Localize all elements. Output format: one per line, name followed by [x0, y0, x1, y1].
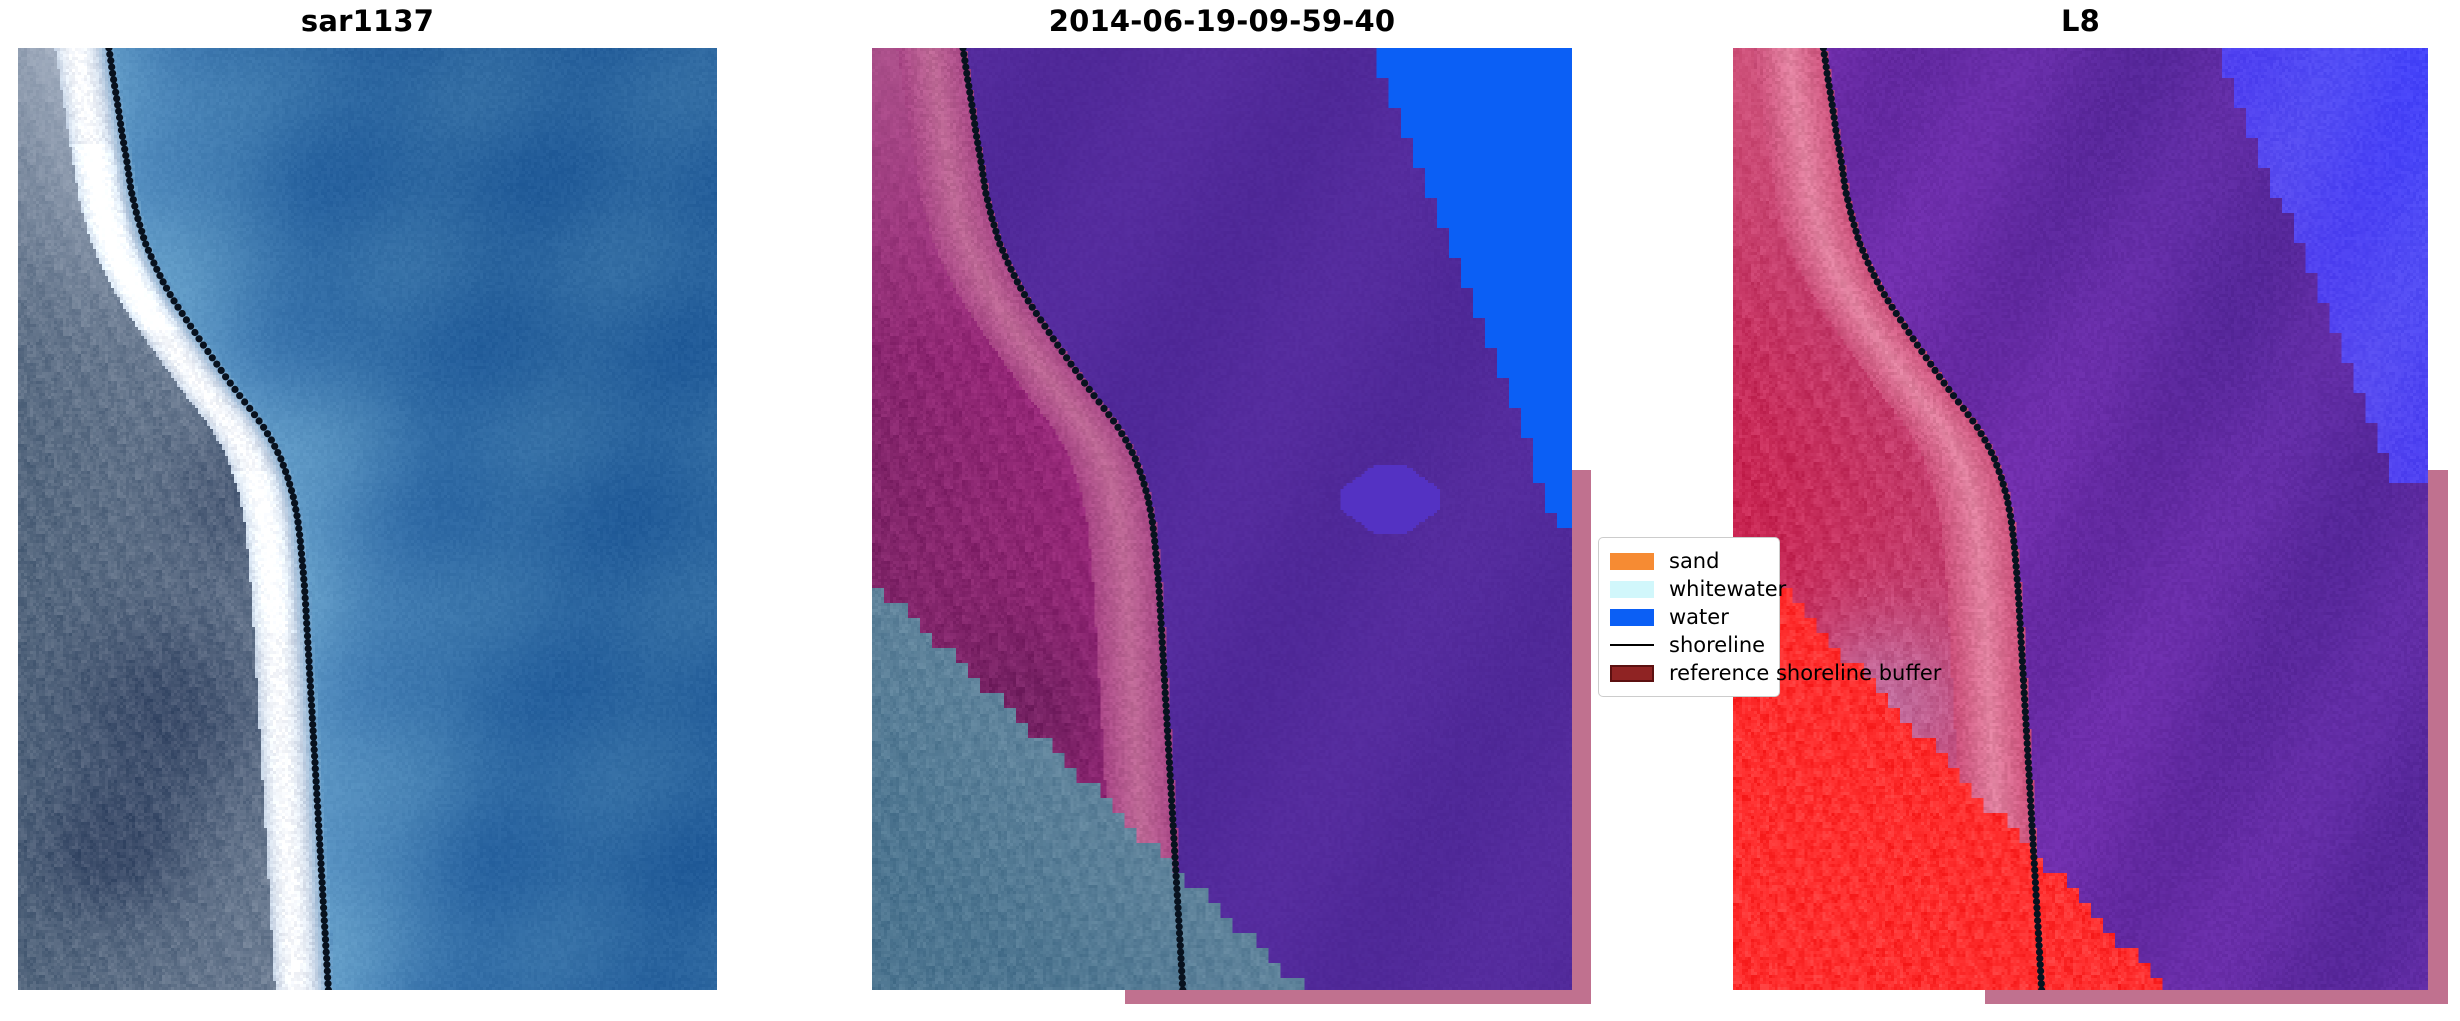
- shoreline-dot: [2033, 904, 2040, 911]
- shoreline-dot: [187, 323, 194, 330]
- shoreline-dot: [1152, 544, 1159, 551]
- shoreline-dot: [2026, 784, 2033, 791]
- shoreline-dot: [1141, 481, 1148, 488]
- shoreline-dot: [110, 76, 117, 83]
- shoreline-dot: [306, 670, 313, 677]
- shoreline-dot: [1041, 323, 1048, 330]
- legend-row-water: water: [1610, 603, 1769, 631]
- shoreline-dot: [1868, 266, 1875, 273]
- shoreline-dot: [1865, 259, 1872, 266]
- shoreline-dot: [1139, 474, 1146, 481]
- shoreline-dot: [264, 430, 271, 437]
- shoreline-dot: [1936, 373, 1943, 380]
- shoreline-dot: [1905, 329, 1912, 336]
- shoreline-dot: [2036, 949, 2043, 956]
- shoreline-dot: [2030, 854, 2037, 861]
- shoreline-dot: [1941, 380, 1948, 387]
- shoreline-dot: [1965, 411, 1972, 418]
- shoreline-dot: [2036, 942, 2043, 949]
- shoreline-dot: [324, 974, 331, 981]
- shoreline-dot: [969, 108, 976, 115]
- shoreline-dot: [282, 468, 289, 475]
- shoreline-dot: [156, 272, 163, 279]
- shoreline-dot: [323, 949, 330, 956]
- shoreline-dot: [303, 620, 310, 627]
- shoreline-dot: [204, 348, 211, 355]
- shoreline-dot: [2011, 544, 2018, 551]
- shoreline-dot: [2033, 898, 2040, 905]
- shoreline-dot: [319, 879, 326, 886]
- shoreline-dot: [324, 967, 331, 974]
- shoreline-dot: [2026, 771, 2033, 778]
- shoreline-dot: [1152, 550, 1159, 557]
- shoreline-dot: [1824, 70, 1831, 77]
- shoreline-dot: [316, 835, 323, 842]
- shoreline-dot: [1153, 557, 1160, 564]
- shoreline-dot: [1132, 455, 1139, 462]
- shoreline-dot: [118, 127, 125, 134]
- shoreline-dot: [153, 266, 160, 273]
- figure-canvas: sar1137 2014-06-19-09-59-40 L8 sand whit…: [0, 0, 2460, 1021]
- shoreline-dot: [322, 930, 329, 937]
- shoreline-dot: [2015, 601, 2022, 608]
- shoreline-dot: [1871, 272, 1878, 279]
- shoreline-dot: [1179, 980, 1186, 987]
- shoreline-dot: [1086, 386, 1093, 393]
- shoreline-dot: [2017, 620, 2024, 627]
- shoreline-dot: [1849, 215, 1856, 222]
- shoreline-dot: [2011, 550, 2018, 557]
- shoreline-dot: [1843, 190, 1850, 197]
- shoreline-dot: [1151, 538, 1158, 545]
- shoreline-dot: [1844, 196, 1851, 203]
- shoreline-dot: [213, 361, 220, 368]
- shoreline-dot: [120, 139, 127, 146]
- shoreline-dot: [1037, 316, 1044, 323]
- shoreline-dot: [1159, 645, 1166, 652]
- shoreline-dot: [307, 689, 314, 696]
- shoreline-dot: [222, 373, 229, 380]
- shoreline-dot: [1118, 430, 1125, 437]
- shoreline-dot: [179, 310, 186, 317]
- shoreline-dot: [1150, 525, 1157, 532]
- shoreline-dot: [299, 557, 306, 564]
- shoreline-dot: [1177, 942, 1184, 949]
- shoreline-dot: [1170, 828, 1177, 835]
- shoreline-dot: [318, 866, 325, 873]
- shoreline-dot: [307, 677, 314, 684]
- shoreline-dot: [236, 392, 243, 399]
- shoreline-dot: [301, 588, 308, 595]
- shoreline-dot: [1033, 310, 1040, 317]
- shoreline-dot: [320, 904, 327, 911]
- shoreline-dot: [148, 253, 155, 260]
- shoreline-dot: [1173, 873, 1180, 880]
- shoreline-dot: [1923, 354, 1930, 361]
- shoreline-dot: [2030, 841, 2037, 848]
- legend-row-reference: reference shoreline buffer: [1610, 659, 1769, 687]
- shoreline-dot: [174, 304, 181, 311]
- shoreline-dot: [1007, 266, 1014, 273]
- shoreline-dot: [1834, 139, 1841, 146]
- shoreline-dot: [1846, 203, 1853, 210]
- shoreline-dot: [961, 57, 968, 64]
- shoreline-dot: [1129, 449, 1136, 456]
- shoreline-dot: [963, 70, 970, 77]
- shoreline-dot: [1981, 436, 1988, 443]
- shoreline-dot: [2017, 632, 2024, 639]
- shoreline-dot: [1996, 468, 2003, 475]
- shoreline-dot: [1974, 424, 1981, 431]
- shoreline-dot: [1840, 171, 1847, 178]
- shoreline-dot: [1901, 323, 1908, 330]
- shoreline-dot: [2024, 746, 2031, 753]
- shoreline-dot: [322, 942, 329, 949]
- shoreline-dot: [310, 727, 317, 734]
- shoreline-dot: [1836, 146, 1843, 153]
- shoreline-dot: [1960, 405, 1967, 412]
- shoreline-dot: [1893, 310, 1900, 317]
- shoreline-dot: [1998, 474, 2005, 481]
- shoreline-dot: [1164, 727, 1171, 734]
- shoreline-dot: [1081, 380, 1088, 387]
- shoreline-dot: [999, 247, 1006, 254]
- shoreline-dot: [2014, 576, 2021, 583]
- shoreline-dot: [304, 632, 311, 639]
- shoreline-dot: [971, 120, 978, 127]
- shoreline-dot: [274, 449, 281, 456]
- shoreline-dot: [167, 291, 174, 298]
- shoreline-dot: [140, 234, 147, 241]
- shoreline-dot: [2020, 677, 2027, 684]
- shoreline-dot: [2016, 613, 2023, 620]
- legend-row-whitewater: whitewater: [1610, 575, 1769, 603]
- shoreline-dot: [1171, 841, 1178, 848]
- shoreline-dot: [1169, 816, 1176, 823]
- shoreline-dot: [1158, 626, 1165, 633]
- legend-label-sand: sand: [1669, 551, 1719, 572]
- shoreline-dot: [1171, 847, 1178, 854]
- shoreline-dot: [1172, 860, 1179, 867]
- shoreline-dot: [1874, 278, 1881, 285]
- shoreline-dot: [1174, 904, 1181, 911]
- shoreline-dot: [309, 715, 316, 722]
- shoreline-dot: [1950, 392, 1957, 399]
- shoreline-dot: [1142, 487, 1149, 494]
- shoreline-dot: [1156, 601, 1163, 608]
- shoreline-overlay-2: [872, 48, 1572, 990]
- shoreline-dot: [1166, 759, 1173, 766]
- shoreline-dot: [1155, 576, 1162, 583]
- shoreline-dot: [2020, 670, 2027, 677]
- shoreline-dot: [987, 209, 994, 216]
- shoreline-dot: [1162, 696, 1169, 703]
- shoreline-dot: [1828, 95, 1835, 102]
- shoreline-dot: [119, 133, 126, 140]
- shoreline-dot: [1851, 221, 1858, 228]
- shoreline-dot: [308, 696, 315, 703]
- shoreline-dot: [305, 645, 312, 652]
- shoreline-dot: [1825, 76, 1832, 83]
- shoreline-dot: [1826, 82, 1833, 89]
- shoreline-dot: [271, 443, 278, 450]
- legend-swatch-sand: [1610, 553, 1654, 570]
- shoreline-dot: [2027, 797, 2034, 804]
- shoreline-dot: [300, 569, 307, 576]
- shoreline-dot: [310, 740, 317, 747]
- shoreline-dot: [312, 771, 319, 778]
- shoreline-dot: [1179, 974, 1186, 981]
- shoreline-dot: [2008, 519, 2015, 526]
- shoreline-dot: [1168, 803, 1175, 810]
- panel-classification[interactable]: [872, 48, 1572, 990]
- shoreline-dot: [1158, 620, 1165, 627]
- shoreline-dot: [325, 986, 332, 990]
- shoreline-dot: [1170, 822, 1177, 829]
- shoreline-dot: [1176, 923, 1183, 930]
- shoreline-dot: [1889, 304, 1896, 311]
- shoreline-dot: [277, 455, 284, 462]
- shoreline-dot: [109, 70, 116, 77]
- shoreline-dot: [305, 651, 312, 658]
- shoreline-dot: [314, 803, 321, 810]
- shoreline-dot: [990, 221, 997, 228]
- shoreline-dot: [1173, 885, 1180, 892]
- shoreline-dot: [970, 114, 977, 121]
- panel-l8[interactable]: [1733, 48, 2428, 990]
- shoreline-dot: [964, 76, 971, 83]
- shoreline-dot: [992, 228, 999, 235]
- shoreline-dot: [1167, 784, 1174, 791]
- shoreline-dot: [2037, 974, 2044, 981]
- shoreline-dot: [1827, 89, 1834, 96]
- shoreline-dot: [1145, 500, 1152, 507]
- shoreline-dot: [291, 500, 298, 507]
- shoreline-dot: [977, 158, 984, 165]
- shoreline-dot: [966, 89, 973, 96]
- shoreline-dot: [1175, 911, 1182, 918]
- shoreline-dot: [1050, 335, 1057, 342]
- shoreline-dot: [2038, 980, 2045, 987]
- shoreline-dot: [2023, 721, 2030, 728]
- shoreline-dot: [136, 221, 143, 228]
- shoreline-dot: [107, 57, 114, 64]
- shoreline-dot: [967, 95, 974, 102]
- shoreline-dot: [1831, 114, 1838, 121]
- shoreline-dot: [286, 481, 293, 488]
- shoreline-dot: [2013, 569, 2020, 576]
- shoreline-dot: [294, 519, 301, 526]
- shoreline-dot: [1988, 449, 1995, 456]
- shoreline-dot: [321, 923, 328, 930]
- shoreline-dot: [962, 63, 969, 70]
- shoreline-dot: [2025, 765, 2032, 772]
- shoreline-dot: [284, 474, 291, 481]
- shoreline-dot: [305, 658, 312, 665]
- shoreline-dot: [316, 841, 323, 848]
- shoreline-dot: [317, 860, 324, 867]
- shoreline-dot: [116, 114, 123, 121]
- shoreline-dot: [2020, 683, 2027, 690]
- shoreline-dot: [2019, 664, 2026, 671]
- shoreline-dot: [2028, 816, 2035, 823]
- panel-sar1137[interactable]: [18, 48, 717, 990]
- shoreline-dot: [134, 215, 141, 222]
- shoreline-dot: [1090, 392, 1097, 399]
- shoreline-dot: [310, 734, 317, 741]
- shoreline-dot: [128, 190, 135, 197]
- shoreline-dot: [994, 234, 1001, 241]
- shoreline-dot: [1166, 765, 1173, 772]
- shoreline-dot: [1002, 253, 1009, 260]
- shoreline-dot: [1095, 398, 1102, 405]
- shoreline-dot: [2007, 512, 2014, 519]
- shoreline-dot: [313, 790, 320, 797]
- shoreline-dot: [124, 165, 131, 172]
- legend-row-shoreline: shoreline: [1610, 631, 1769, 659]
- shoreline-dot: [1160, 664, 1167, 671]
- shoreline-dot: [311, 753, 318, 760]
- shoreline-dot: [2018, 651, 2025, 658]
- shoreline-dot: [227, 380, 234, 387]
- shoreline-dot: [218, 367, 225, 374]
- shoreline-dot: [1173, 879, 1180, 886]
- shoreline-dot: [1163, 715, 1170, 722]
- shoreline-dot: [1017, 285, 1024, 292]
- shoreline-dot: [2014, 582, 2021, 589]
- shoreline-dot: [981, 184, 988, 191]
- panel-title-l8: L8: [1733, 4, 2428, 38]
- shoreline-dot: [1168, 790, 1175, 797]
- shoreline-dot: [1169, 809, 1176, 816]
- shoreline-dot: [2016, 607, 2023, 614]
- shoreline-dot: [1164, 734, 1171, 741]
- shoreline-dot: [2026, 778, 2033, 785]
- shoreline-dot: [297, 544, 304, 551]
- shoreline-dot: [1134, 462, 1141, 469]
- shoreline-dot: [1859, 247, 1866, 254]
- shoreline-dot: [1969, 417, 1976, 424]
- shoreline-dot: [200, 342, 207, 349]
- shoreline-dot: [2019, 658, 2026, 665]
- shoreline-dot: [1993, 462, 2000, 469]
- shoreline-dot: [306, 664, 313, 671]
- shoreline-dot: [297, 538, 304, 545]
- shoreline-dot: [299, 563, 306, 570]
- shoreline-dot: [308, 702, 315, 709]
- shoreline-dot: [1176, 936, 1183, 943]
- shoreline-dot: [978, 165, 985, 172]
- shoreline-dot: [2010, 538, 2017, 545]
- shoreline-dot: [304, 639, 311, 646]
- shoreline-dot: [1179, 986, 1186, 990]
- shoreline-dot: [117, 120, 124, 127]
- shoreline-dot: [1100, 405, 1107, 412]
- shoreline-dot: [1829, 101, 1836, 108]
- shoreline-dot: [972, 127, 979, 134]
- shoreline-dot: [302, 594, 309, 601]
- shoreline-dot: [1877, 285, 1884, 292]
- shoreline-dot: [1158, 632, 1165, 639]
- shoreline-dot: [1176, 930, 1183, 937]
- shoreline-dot: [191, 329, 198, 336]
- shoreline-dot: [2004, 500, 2011, 507]
- shoreline-dot: [1918, 348, 1925, 355]
- shoreline-dot: [976, 152, 983, 159]
- shoreline-dot: [2022, 708, 2029, 715]
- shoreline-dot: [2021, 702, 2028, 709]
- shoreline-dot: [1852, 228, 1859, 235]
- shoreline-dot: [1167, 778, 1174, 785]
- shoreline-dot: [121, 146, 128, 153]
- shoreline-dot: [1841, 184, 1848, 191]
- shoreline-dot: [308, 708, 315, 715]
- shoreline-dot: [2000, 481, 2007, 488]
- shoreline-dot: [2017, 626, 2024, 633]
- shoreline-dot: [163, 285, 170, 292]
- shoreline-dot: [290, 493, 297, 500]
- shoreline-dot: [2023, 734, 2030, 741]
- legend-row-sand: sand: [1610, 547, 1769, 575]
- shoreline-dot: [965, 82, 972, 89]
- shoreline-dot: [1162, 702, 1169, 709]
- shoreline-dot: [2036, 955, 2043, 962]
- shoreline-dot: [2021, 696, 2028, 703]
- shoreline-dot: [314, 809, 321, 816]
- shoreline-dot: [131, 203, 138, 210]
- shoreline-dot: [1174, 898, 1181, 905]
- shoreline-dot: [1136, 468, 1143, 475]
- shoreline-dot: [1161, 670, 1168, 677]
- shoreline-dot: [2015, 588, 2022, 595]
- shoreline-dot: [2029, 835, 2036, 842]
- shoreline-dot: [1154, 569, 1161, 576]
- shoreline-dot: [256, 417, 263, 424]
- shoreline-dot: [302, 607, 309, 614]
- shoreline-dot: [241, 398, 248, 405]
- shoreline-dot: [2031, 860, 2038, 867]
- shoreline-dot: [1172, 866, 1179, 873]
- shoreline-dot: [2012, 557, 2019, 564]
- legend-line-shoreline: [1610, 637, 1654, 654]
- shoreline-dot: [298, 550, 305, 557]
- shoreline-dot: [150, 259, 157, 266]
- shoreline-dot: [1150, 531, 1157, 538]
- shoreline-dot: [2029, 828, 2036, 835]
- shoreline-dot: [1149, 519, 1156, 526]
- shoreline-dot: [996, 240, 1003, 247]
- shoreline-dot: [304, 626, 311, 633]
- shoreline-dot: [2038, 986, 2045, 990]
- shoreline-dot: [316, 828, 323, 835]
- shoreline-dot: [309, 721, 316, 728]
- shoreline-dot: [1822, 57, 1829, 64]
- legend: sand whitewater water shoreline referenc…: [1598, 537, 1780, 697]
- shoreline-dot: [1154, 563, 1161, 570]
- shoreline-dot: [1160, 658, 1167, 665]
- shoreline-overlay-1: [18, 48, 717, 990]
- shoreline-dot: [317, 854, 324, 861]
- shoreline-dot: [231, 386, 238, 393]
- shoreline-dot: [2018, 645, 2025, 652]
- shoreline-dot: [315, 816, 322, 823]
- shoreline-dot: [314, 797, 321, 804]
- legend-swatch-water: [1610, 609, 1654, 626]
- shoreline-dot: [2001, 487, 2008, 494]
- shoreline-dot: [2024, 740, 2031, 747]
- shoreline-dot: [142, 240, 149, 247]
- shoreline-dot: [160, 278, 167, 285]
